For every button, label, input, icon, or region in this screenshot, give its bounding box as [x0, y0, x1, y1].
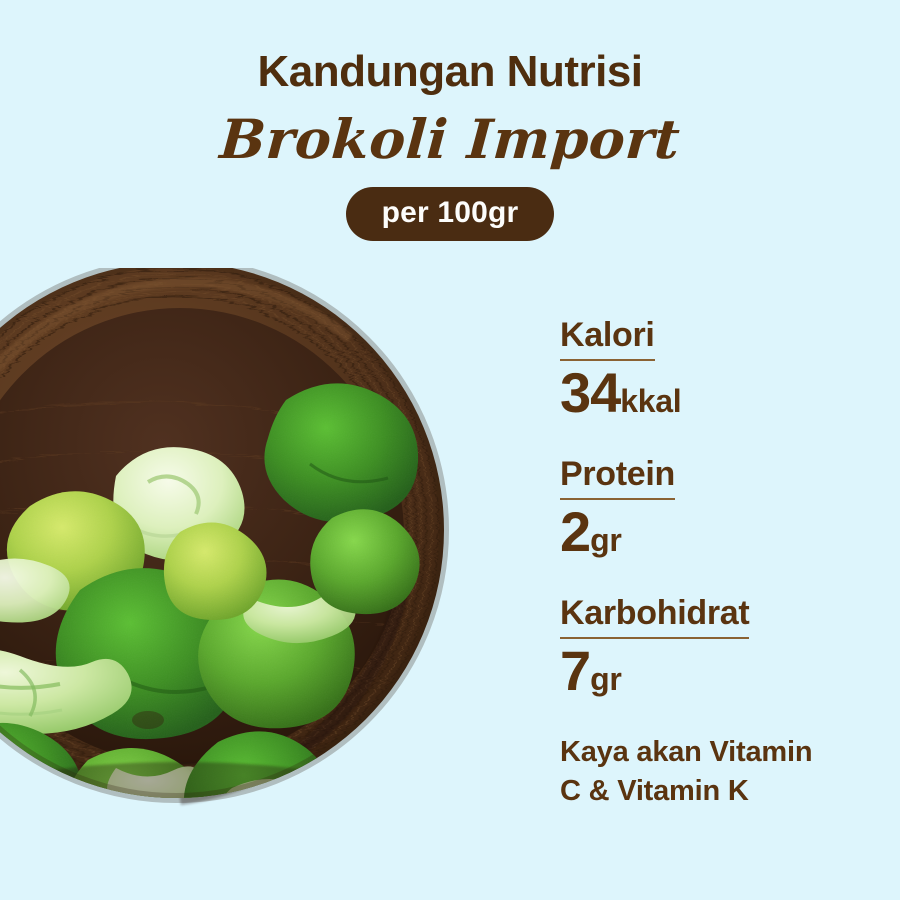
- broccoli-bowl-illustration: [0, 268, 506, 826]
- stat-unit-kalori: kkal: [620, 383, 681, 419]
- page-title: Kandungan Nutrisi: [0, 48, 900, 96]
- nutrition-infographic: Kandungan Nutrisi Brokoli Import per 100…: [0, 0, 900, 900]
- serving-badge-wrap: per 100gr: [0, 187, 900, 241]
- stat-protein: Protein 2gr: [560, 455, 890, 560]
- stat-value-kalori: 34kkal: [560, 365, 890, 421]
- vitamin-note-line2: C & Vitamin K: [560, 772, 890, 810]
- serving-size-badge: per 100gr: [346, 187, 555, 241]
- page-subtitle: Brokoli Import: [0, 110, 900, 169]
- stat-value-protein: 2gr: [560, 504, 890, 560]
- stat-unit-karbohidrat: gr: [590, 661, 621, 697]
- stat-unit-protein: gr: [590, 522, 621, 558]
- stat-karbohidrat: Karbohidrat 7gr: [560, 594, 890, 699]
- stat-kalori: Kalori 34kkal: [560, 316, 890, 421]
- vitamin-note-line1: Kaya akan Vitamin: [560, 733, 890, 771]
- stat-label-kalori: Kalori: [560, 316, 655, 361]
- vitamin-note: Kaya akan Vitamin C & Vitamin K: [560, 733, 890, 810]
- stat-number-karbohidrat: 7: [560, 639, 590, 702]
- nutrition-stats: Kalori 34kkal Protein 2gr Karbohidrat 7g…: [560, 316, 890, 810]
- stat-number-protein: 2: [560, 500, 590, 563]
- header: Kandungan Nutrisi Brokoli Import per 100…: [0, 0, 900, 241]
- stat-value-karbohidrat: 7gr: [560, 643, 890, 699]
- stat-label-protein: Protein: [560, 455, 675, 500]
- broccoli-bowl-photo: [0, 268, 506, 826]
- stat-number-kalori: 34: [560, 361, 620, 424]
- stat-label-karbohidrat: Karbohidrat: [560, 594, 749, 639]
